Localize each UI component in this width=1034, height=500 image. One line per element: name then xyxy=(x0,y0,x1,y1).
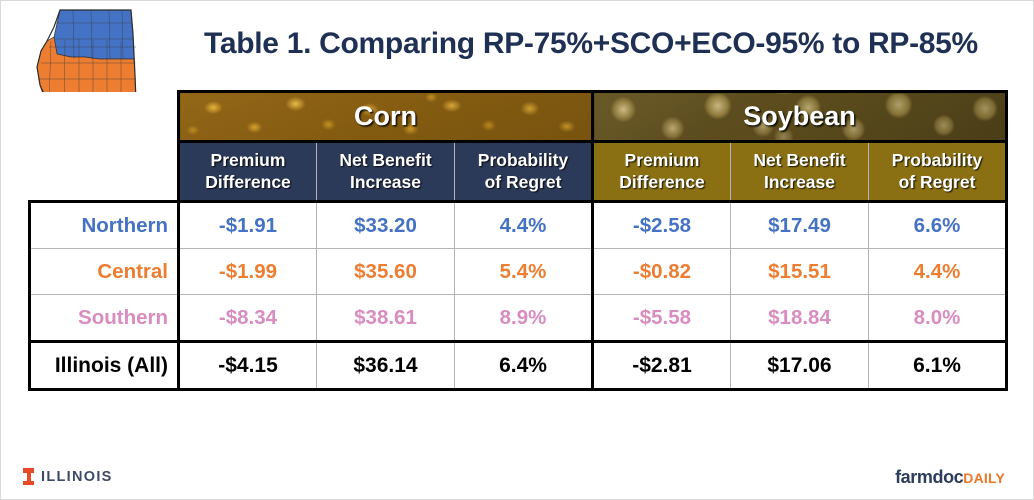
group-header-corn: Corn xyxy=(179,92,593,142)
col-header-line2: of Regret xyxy=(899,172,976,192)
cell-central-corn-net-benefit-increase: $35.60 xyxy=(317,249,455,295)
row-label-central: Central xyxy=(30,249,179,295)
row-label-northern: Northern xyxy=(30,202,179,249)
col-header-line1: Probability xyxy=(892,150,982,170)
group-header-soybean: Soybean xyxy=(593,92,1007,142)
col-header-soy-net-benefit-increase: Net Benefit Increase xyxy=(731,142,869,202)
cell-southern-soy-probability-of-regret: 8.0% xyxy=(869,295,1007,342)
col-header-corn-probability-of-regret: Probability of Regret xyxy=(455,142,593,202)
illinois-i-block-icon xyxy=(23,468,34,485)
cell-northern-corn-probability-of-regret: 4.4% xyxy=(455,202,593,249)
cell-illinois-corn-net-benefit-increase: $36.14 xyxy=(317,342,455,390)
col-header-line2: Increase xyxy=(764,172,835,192)
cell-northern-soy-premium-difference: -$2.58 xyxy=(593,202,731,249)
col-header-soy-probability-of-regret: Probability of Regret xyxy=(869,142,1007,202)
table-row: Southern -$8.34 $38.61 8.9% -$5.58 $18.8… xyxy=(30,295,1007,342)
cell-illinois-soy-net-benefit-increase: $17.06 xyxy=(731,342,869,390)
comparison-table-container: Corn Soybean Premium Difference Net Bene… xyxy=(28,90,1007,391)
illinois-logo-text: ILLINOIS xyxy=(41,469,113,485)
col-header-line1: Probability xyxy=(478,150,568,170)
illinois-logo: ILLINOIS xyxy=(23,468,113,485)
col-header-soy-premium-difference: Premium Difference xyxy=(593,142,731,202)
row-label-illinois-all: Illinois (All) xyxy=(30,342,179,390)
cell-southern-corn-net-benefit-increase: $38.61 xyxy=(317,295,455,342)
cell-central-soy-net-benefit-increase: $15.51 xyxy=(731,249,869,295)
cell-northern-corn-premium-difference: -$1.91 xyxy=(179,202,317,249)
cell-illinois-soy-premium-difference: -$2.81 xyxy=(593,342,731,390)
corner-spacer-2 xyxy=(30,142,179,202)
corner-spacer xyxy=(30,92,179,142)
cell-central-soy-probability-of-regret: 4.4% xyxy=(869,249,1007,295)
row-label-southern: Southern xyxy=(30,295,179,342)
col-header-corn-premium-difference: Premium Difference xyxy=(179,142,317,202)
col-header-line1: Premium xyxy=(211,150,286,170)
farmdoc-logo-text: farmdoc xyxy=(895,467,963,487)
col-header-line2: Difference xyxy=(619,172,705,192)
farmdoc-daily-logo: farmdocDAILY xyxy=(895,467,1005,488)
cell-southern-soy-net-benefit-increase: $18.84 xyxy=(731,295,869,342)
cell-central-corn-premium-difference: -$1.99 xyxy=(179,249,317,295)
cell-northern-soy-probability-of-regret: 6.6% xyxy=(869,202,1007,249)
cell-illinois-corn-premium-difference: -$4.15 xyxy=(179,342,317,390)
table-row: Illinois (All) -$4.15 $36.14 6.4% -$2.81… xyxy=(30,342,1007,390)
table-column-header-row: Premium Difference Net Benefit Increase … xyxy=(30,142,1007,202)
cell-southern-corn-probability-of-regret: 8.9% xyxy=(455,295,593,342)
cell-southern-corn-premium-difference: -$8.34 xyxy=(179,295,317,342)
farmdoc-daily-suffix: DAILY xyxy=(963,470,1005,486)
cell-illinois-soy-probability-of-regret: 6.1% xyxy=(869,342,1007,390)
col-header-line1: Net Benefit xyxy=(339,150,431,170)
col-header-corn-net-benefit-increase: Net Benefit Increase xyxy=(317,142,455,202)
col-header-line2: Difference xyxy=(205,172,291,192)
table-row: Northern -$1.91 $33.20 4.4% -$2.58 $17.4… xyxy=(30,202,1007,249)
cell-illinois-corn-probability-of-regret: 6.4% xyxy=(455,342,593,390)
col-header-line2: of Regret xyxy=(485,172,562,192)
comparison-table: Corn Soybean Premium Difference Net Bene… xyxy=(28,90,1008,391)
cell-southern-soy-premium-difference: -$5.58 xyxy=(593,295,731,342)
col-header-line1: Net Benefit xyxy=(753,150,845,170)
cell-central-soy-premium-difference: -$0.82 xyxy=(593,249,731,295)
cell-northern-soy-net-benefit-increase: $17.49 xyxy=(731,202,869,249)
table-row: Central -$1.99 $35.60 5.4% -$0.82 $15.51… xyxy=(30,249,1007,295)
cell-northern-corn-net-benefit-increase: $33.20 xyxy=(317,202,455,249)
table-group-header-row: Corn Soybean xyxy=(30,92,1007,142)
cell-central-corn-probability-of-regret: 5.4% xyxy=(455,249,593,295)
col-header-line1: Premium xyxy=(625,150,700,170)
slide-canvas: Table 1. Comparing RP-75%+SCO+ECO-95% to… xyxy=(0,0,1034,500)
col-header-line2: Increase xyxy=(350,172,421,192)
page-title: Table 1. Comparing RP-75%+SCO+ECO-95% to… xyxy=(151,27,1031,61)
